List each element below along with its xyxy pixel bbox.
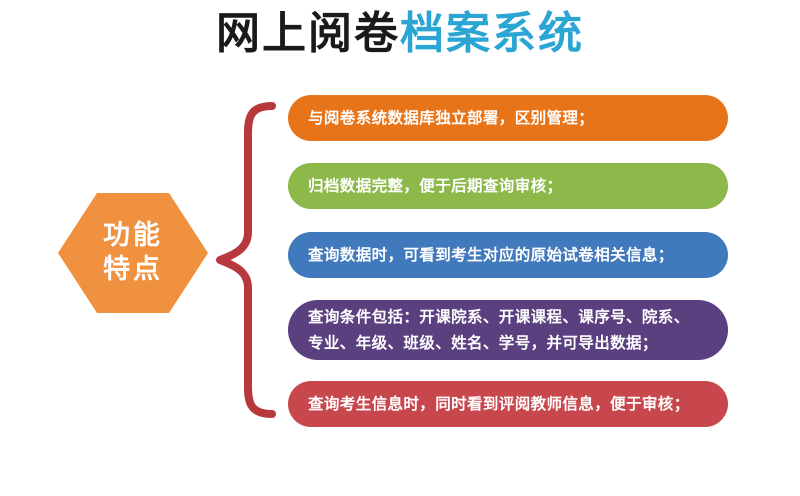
feature-item-1-text: 与阅卷系统数据库独立部署，区别管理； <box>308 105 594 131</box>
feature-item-2-text: 归档数据完整，便于后期查询审核； <box>308 173 562 199</box>
hexagon-label-line-2: 特点 <box>103 253 163 287</box>
page-title-accent: 档案系统 <box>400 8 584 59</box>
left-curly-brace-icon <box>210 100 280 420</box>
feature-item-4-line-2: 专业、年级、班级、姓名、学号，并可导出数据； <box>308 330 690 356</box>
page-title: 网上阅卷档案系统 <box>0 4 800 64</box>
page-title-primary: 网上阅卷 <box>216 8 400 59</box>
feature-item-5[interactable]: 查询考生信息时，同时看到评阅教师信息，便于审核； <box>288 381 728 427</box>
hexagon-label: 功能 特点 <box>58 193 208 313</box>
feature-item-5-text: 查询考生信息时，同时看到评阅教师信息，便于审核； <box>308 391 690 417</box>
feature-item-4[interactable]: 查询条件包括：开课院系、开课课程、课序号、院系、 专业、年级、班级、姓名、学号，… <box>288 300 728 360</box>
hexagon-label-line-1: 功能 <box>103 219 163 253</box>
feature-hexagon: 功能 特点 <box>58 193 208 313</box>
feature-item-4-line-1: 查询条件包括：开课院系、开课课程、课序号、院系、 <box>308 304 690 330</box>
feature-item-4-text: 查询条件包括：开课院系、开课课程、课序号、院系、 专业、年级、班级、姓名、学号，… <box>308 304 690 356</box>
feature-item-1[interactable]: 与阅卷系统数据库独立部署，区别管理； <box>288 95 728 141</box>
slide-canvas: 网上阅卷档案系统 功能 特点 与阅卷系统数据库独立部署，区别管理； 归档数据完整… <box>0 0 800 496</box>
feature-item-2[interactable]: 归档数据完整，便于后期查询审核； <box>288 163 728 209</box>
feature-item-3-text: 查询数据时，可看到考生对应的原始试卷相关信息； <box>308 242 674 268</box>
feature-item-3[interactable]: 查询数据时，可看到考生对应的原始试卷相关信息； <box>288 232 728 278</box>
